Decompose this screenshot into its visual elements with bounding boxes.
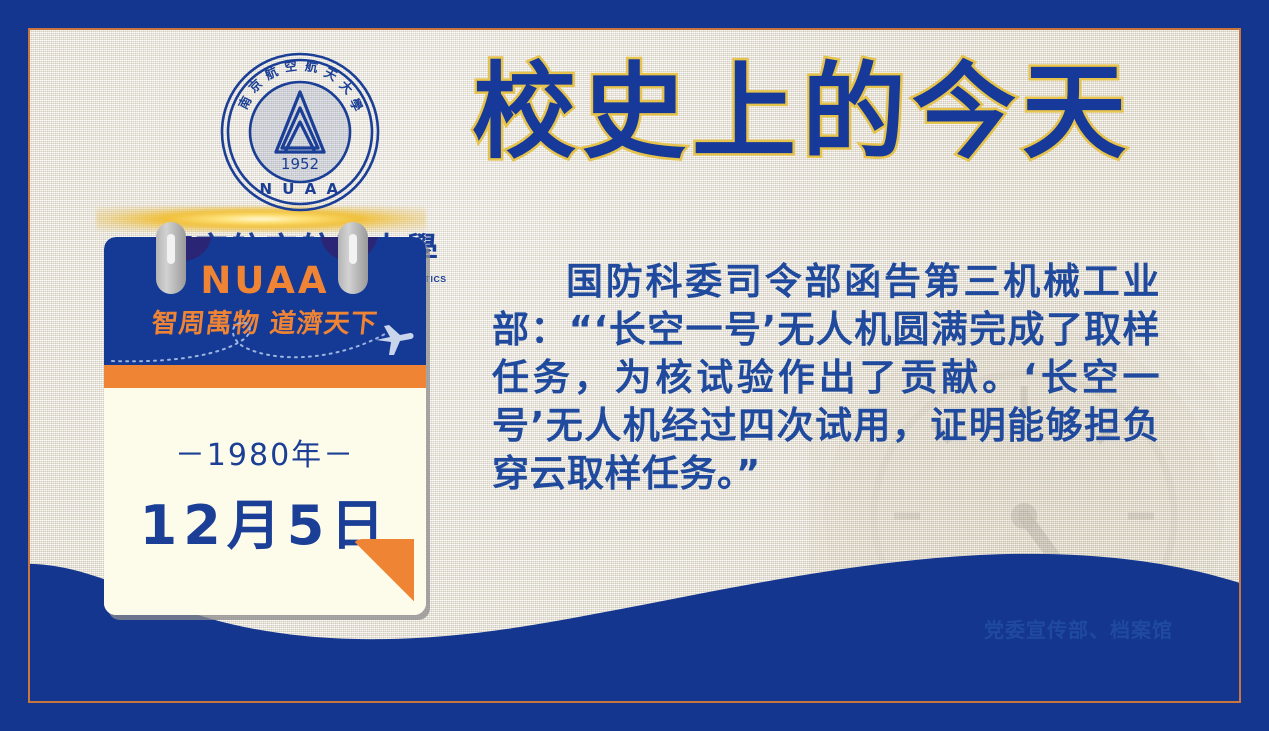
article-paragraph: 国防科委司令部函告第三机械工业部：“‘长空一号’无人机圆满完成了取样任务，为核试… [492, 258, 1160, 498]
page-title: 校史上的今天 [472, 58, 1132, 167]
calendar-year: －1980年－ [104, 430, 426, 474]
svg-text:京: 京 [245, 76, 265, 96]
nuaa-emblem-icon: 1952 N U A A 南 京 航 空 航 天 大 學 [216, 48, 384, 216]
svg-text:航: 航 [304, 58, 319, 75]
calendar-card: NUAA 智周萬物 道濟天下 －1980年－ 12月5日 [104, 237, 426, 615]
page-fold-corner-icon [352, 539, 414, 601]
svg-text:1952: 1952 [281, 155, 319, 173]
svg-text:航: 航 [262, 63, 280, 82]
airplane-icon [370, 321, 416, 361]
signature-credit: 党委宣传部、档案馆 [984, 614, 1173, 643]
calendar-header: NUAA 智周萬物 道濟天下 [104, 237, 426, 365]
svg-text:天: 天 [322, 65, 341, 84]
calendar-brand: NUAA [104, 259, 426, 302]
poster-root: 1952 N U A A 南 京 航 空 航 天 大 學 南京航空航天大學 NA… [0, 0, 1269, 731]
binder-ring-left-slot [167, 234, 175, 264]
svg-text:N U A A: N U A A [259, 180, 340, 198]
calendar-accent-stripe [104, 365, 426, 388]
svg-text:大: 大 [337, 77, 357, 97]
binder-ring-right [338, 222, 368, 294]
calendar-body: －1980年－ 12月5日 [104, 388, 426, 615]
binder-ring-left [156, 222, 186, 294]
svg-text:空: 空 [284, 58, 298, 75]
binder-ring-right-slot [349, 234, 357, 264]
